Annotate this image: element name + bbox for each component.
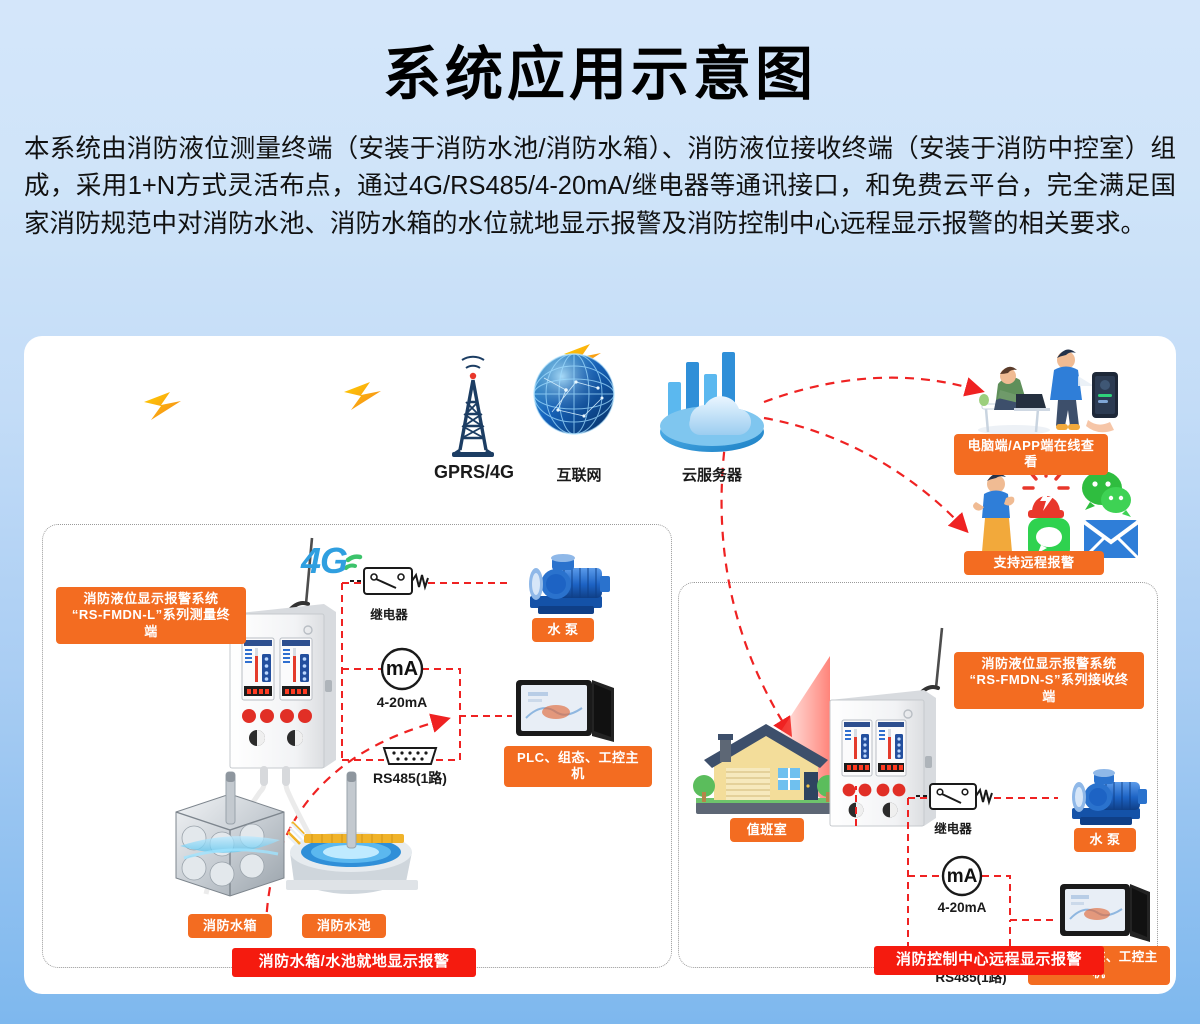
intro-paragraph: 本系统由消防液位测量终端（安装于消防水池/消防水箱）、消防液位接收终端（安装于消… (18, 131, 1182, 243)
water-tank-badge[interactable]: 消防水箱 (188, 914, 272, 938)
page-header: 系统应用示意图 本系统由消防液位测量终端（安装于消防水池/消防水箱）、消防液位接… (0, 0, 1200, 243)
cloud-server-label: 云服务器 (652, 464, 772, 485)
remote-system-panel (678, 582, 1158, 968)
page-title: 系统应用示意图 (18, 42, 1182, 109)
tower-label: GPRS/4G (414, 462, 534, 483)
ma-icon-left: mA (377, 658, 427, 681)
relay-label-right: 继电器 (918, 818, 988, 837)
pump-badge-left[interactable]: 水 泵 (532, 618, 594, 642)
receiving-terminal-badge[interactable]: 消防液位显示报警系统 “RS-FMDN-S”系列接收终端 (954, 652, 1144, 709)
plc-badge-left[interactable]: PLC、组态、工控主机 (504, 746, 652, 787)
internet-label: 互联网 (519, 464, 639, 485)
ma-label-left: 4-20mA (364, 694, 440, 710)
rs485-label-left: RS485(1路) (354, 768, 466, 788)
pump-badge-right[interactable]: 水 泵 (1074, 828, 1136, 852)
measuring-terminal-badge[interactable]: 消防液位显示报警系统 “RS-FMDN-L”系列测量终端 (56, 587, 246, 644)
ma-label-right: 4-20mA (926, 900, 998, 915)
local-alarm-footer-badge[interactable]: 消防水箱/水池就地显示报警 (232, 948, 476, 977)
relay-label-left: 继电器 (354, 604, 424, 623)
diagram-card: GPRS/4G 互联网 云服务器 电脑端/APP端在线查看 支持远程报警 消防液… (24, 336, 1176, 994)
remote-alarm-footer-badge[interactable]: 消防控制中心远程显示报警 (874, 946, 1104, 975)
remote-alarm-badge[interactable]: 支持远程报警 (964, 551, 1104, 575)
water-pool-badge[interactable]: 消防水池 (302, 914, 386, 938)
duty-room-badge[interactable]: 值班室 (730, 818, 804, 842)
online-view-badge[interactable]: 电脑端/APP端在线查看 (954, 434, 1108, 475)
ma-icon-right: mA (938, 866, 986, 888)
net-badge-4g: 4G (301, 540, 347, 582)
